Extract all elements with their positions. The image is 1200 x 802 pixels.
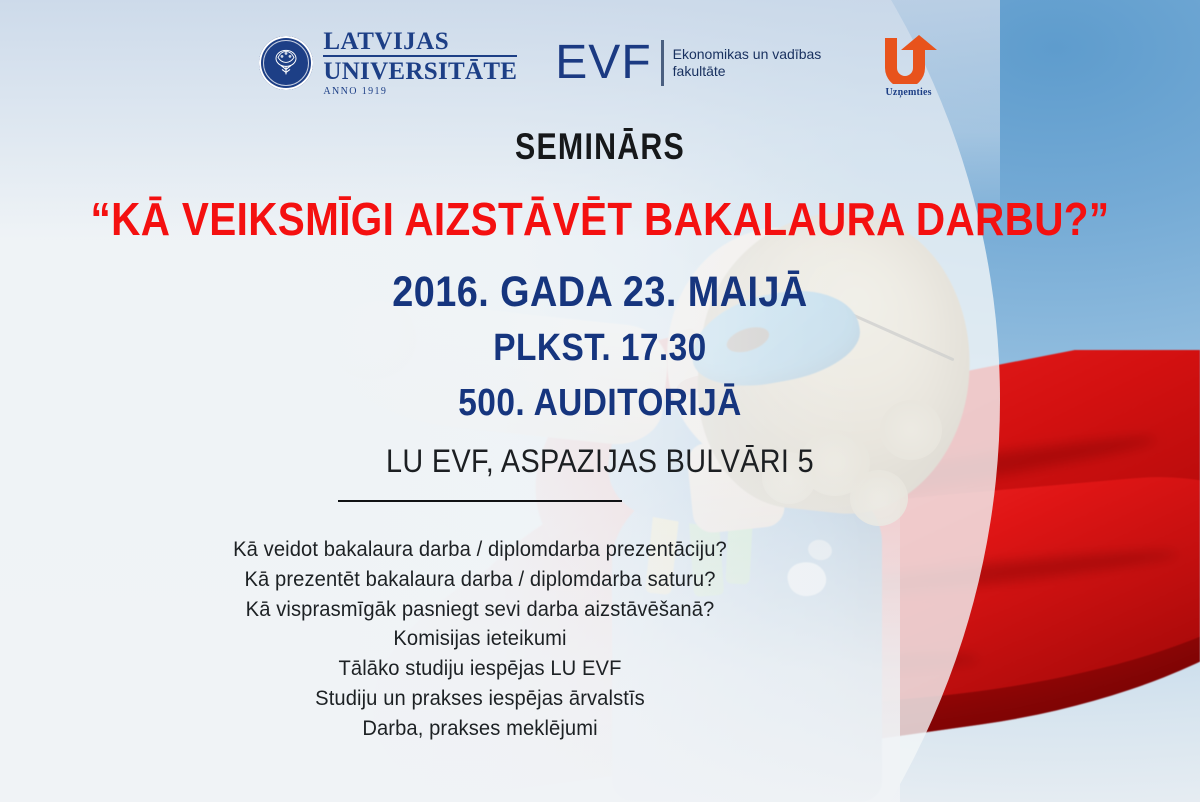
event-address: LU EVF, ASPAZIJAS BULVĀRI 5 xyxy=(60,443,1140,480)
list-item: Darba, prakses meklējumi xyxy=(19,714,941,744)
poster-content: LATVIJAS UNIVERSITĀTE ANNO 1919 EVF Ekon… xyxy=(0,0,1200,802)
list-item: Komisijas ieteikumi xyxy=(19,624,941,654)
u-turn-arrow-up-icon xyxy=(877,28,941,84)
list-item: Tālāko studiju iespējas LU EVF xyxy=(19,654,941,684)
lu-line-3: ANNO 1919 xyxy=(323,87,517,97)
event-time: PLKST. 17.30 xyxy=(72,327,1128,370)
evf-mark: EVF xyxy=(555,40,651,86)
evf-subtitle: Ekonomikas un vadības fakultāte xyxy=(673,46,833,81)
event-date: 2016. GADA 23. MAIJĀ xyxy=(72,268,1128,317)
section-divider xyxy=(338,500,622,502)
uznemties-label: Uzņemties xyxy=(886,87,932,98)
seal-tree-glyph xyxy=(271,47,301,77)
evf-divider xyxy=(661,40,664,86)
page-title: “KĀ VEIKSMĪGI AIZSTĀVĒT BAKALAURA DARBU?… xyxy=(72,192,1128,246)
seminar-kicker: SEMINĀRS xyxy=(108,126,1092,168)
poster-canvas: LATVIJAS UNIVERSITĀTE ANNO 1919 EVF Ekon… xyxy=(0,0,1200,802)
list-item: Kā visprasmīgāk pasniegt sevi darba aizs… xyxy=(19,595,941,625)
logo-bar: LATVIJAS UNIVERSITĀTE ANNO 1919 EVF Ekon… xyxy=(0,28,1200,98)
list-item: Kā prezentēt bakalaura darba / diplomdar… xyxy=(19,565,941,595)
uznemties-logo: Uzņemties xyxy=(877,28,941,98)
lu-logo: LATVIJAS UNIVERSITĀTE ANNO 1919 xyxy=(259,29,517,97)
lu-line-1: LATVIJAS xyxy=(323,29,517,57)
topics-list: Kā veidot bakalaura darba / diplomdarba … xyxy=(0,535,960,744)
university-seal-tree-icon xyxy=(259,36,313,90)
lu-wordmark: LATVIJAS UNIVERSITĀTE ANNO 1919 xyxy=(323,29,517,97)
list-item: Studiju un prakses iespējas ārvalstīs xyxy=(19,684,941,714)
event-room: 500. AUDITORIJĀ xyxy=(72,382,1128,425)
list-item: Kā veidot bakalaura darba / diplomdarba … xyxy=(19,535,941,565)
lu-line-2: UNIVERSITĀTE xyxy=(323,59,517,84)
evf-logo: EVF Ekonomikas un vadības fakultāte xyxy=(555,40,832,86)
